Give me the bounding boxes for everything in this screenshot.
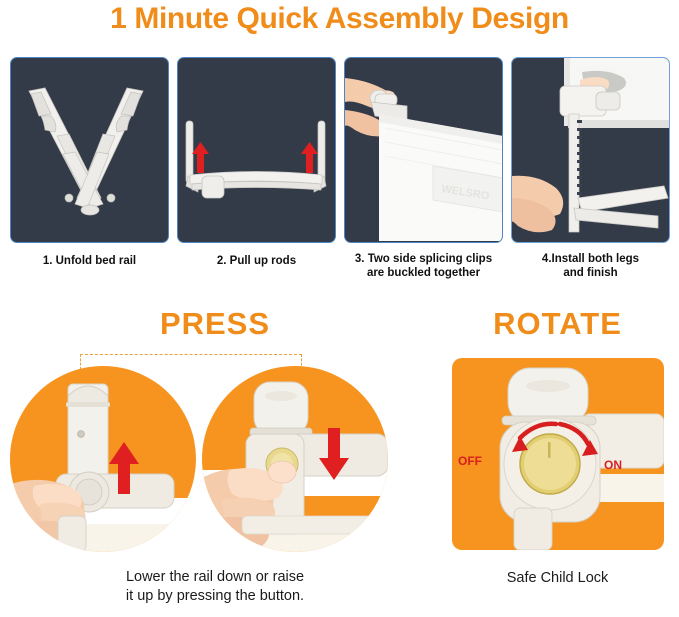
off-label: OFF bbox=[458, 454, 482, 468]
press-heading: PRESS bbox=[10, 306, 420, 342]
press-circle-left bbox=[10, 366, 196, 552]
step-caption-3-line1: 3. Two side splicing clips bbox=[344, 252, 503, 266]
step-panel-4 bbox=[511, 57, 670, 243]
press-left-illustration bbox=[10, 366, 196, 552]
step-2-illustration bbox=[178, 58, 336, 241]
step-caption-4: 4.Install both legs and finish bbox=[511, 252, 670, 298]
page-title: 1 Minute Quick Assembly Design bbox=[0, 2, 679, 36]
step-panel-2 bbox=[177, 57, 336, 243]
step-caption-1: 1. Unfold bed rail bbox=[10, 252, 169, 298]
step-caption-3: 3. Two side splicing clips are buckled t… bbox=[344, 252, 503, 298]
step-captions-row: 1. Unfold bed rail 2. Pull up rods 3. Tw… bbox=[10, 252, 670, 298]
press-caption: Lower the rail down or raise it up by pr… bbox=[10, 568, 420, 606]
press-section bbox=[10, 348, 420, 560]
step-caption-3-line2: are buckled together bbox=[344, 266, 503, 280]
step-panel-3: WELSRO bbox=[344, 57, 503, 243]
step-caption-4-line2: and finish bbox=[511, 266, 670, 280]
press-caption-line1: Lower the rail down or raise bbox=[10, 568, 420, 587]
step-panel-1 bbox=[10, 57, 169, 243]
on-label: ON bbox=[604, 458, 622, 472]
rotate-caption: Safe Child Lock bbox=[440, 570, 675, 586]
red-up-arrow-left bbox=[192, 142, 209, 173]
step-4-illustration bbox=[512, 58, 670, 241]
step-1-illustration bbox=[11, 58, 169, 241]
red-up-arrow-right bbox=[301, 142, 318, 173]
press-right-illustration bbox=[202, 366, 388, 552]
rotate-heading: ROTATE bbox=[440, 306, 675, 342]
step-caption-2: 2. Pull up rods bbox=[177, 252, 336, 298]
rotate-panel: OFF ON bbox=[452, 358, 664, 550]
assembly-steps-row: WELSRO bbox=[10, 57, 670, 243]
press-caption-line2: it up by pressing the button. bbox=[10, 587, 420, 606]
rotate-illustration bbox=[452, 358, 664, 550]
press-circle-right bbox=[202, 366, 388, 552]
step-caption-4-line1: 4.Install both legs bbox=[511, 252, 670, 266]
step-3-illustration: WELSRO bbox=[345, 58, 503, 241]
